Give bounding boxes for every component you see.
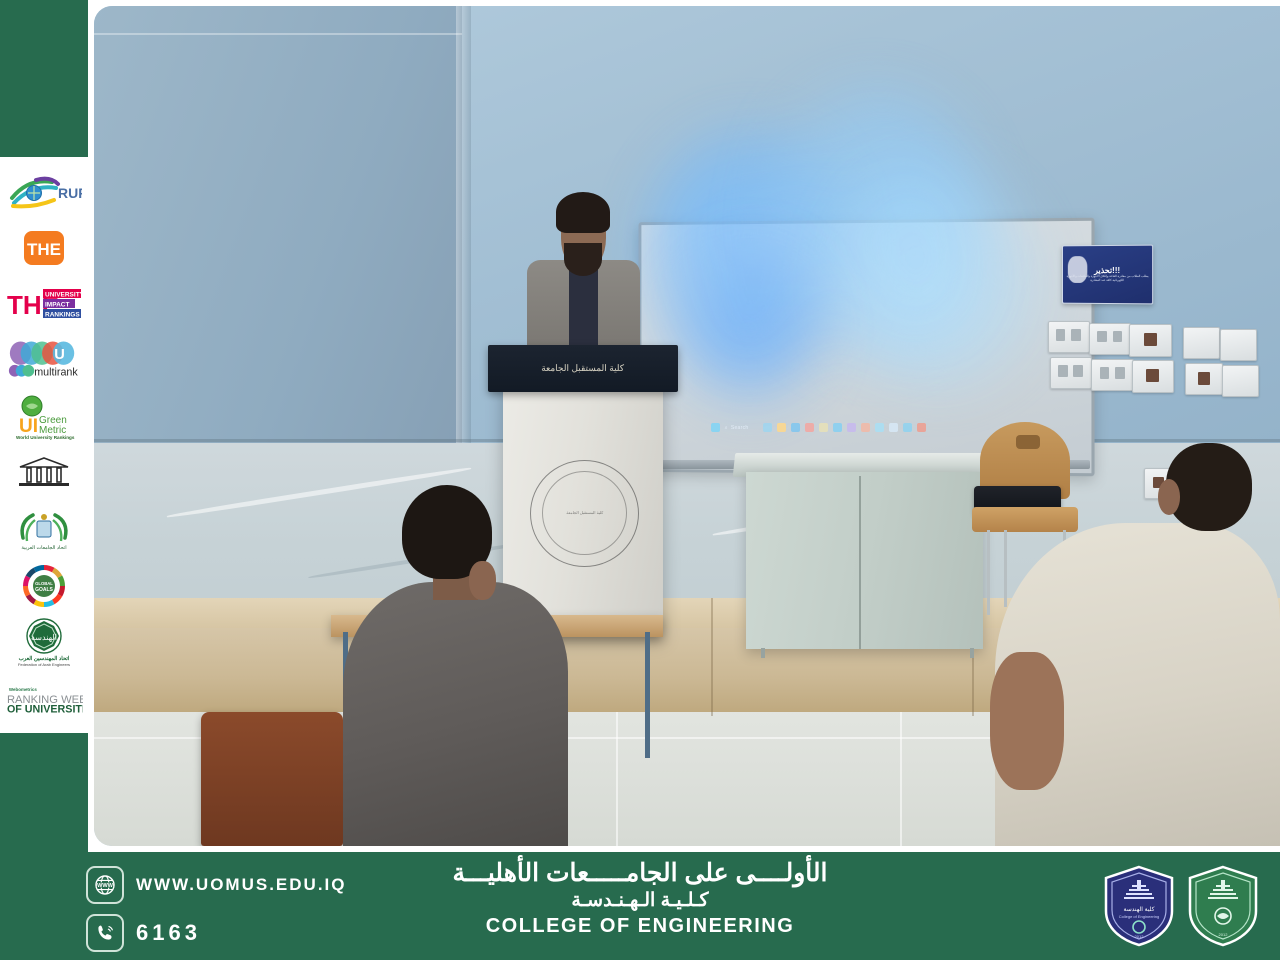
taskbar-icon-folder[interactable] bbox=[819, 423, 828, 432]
taskbar-icon-app4[interactable] bbox=[903, 423, 912, 432]
svg-text:U: U bbox=[54, 347, 65, 363]
taskbar-icon-app3[interactable] bbox=[889, 423, 898, 432]
svg-text:College of Engineering: College of Engineering bbox=[1119, 914, 1159, 919]
svg-text:اتحاد الجامعات العربية: اتحاد الجامعات العربية bbox=[21, 545, 66, 551]
taskbar-icon-store[interactable] bbox=[805, 423, 814, 432]
arab-universities-logo: اتحاد الجامعات العربية bbox=[5, 501, 83, 557]
svg-text:UNIVERSITY: UNIVERSITY bbox=[45, 292, 83, 299]
svg-text:2012: 2012 bbox=[1135, 934, 1145, 939]
taskbar-icon-chat[interactable] bbox=[833, 423, 842, 432]
bottom-banner: WWW WWW.UOMUS.EDU.IQ 6163 الأولــــى على… bbox=[0, 852, 1280, 960]
ui-greenmetric-logo: UI Green Metric World University Ranking… bbox=[5, 389, 83, 445]
svg-text:THE: THE bbox=[27, 240, 61, 259]
banner-crests: كلية الهندسة College of Engineering 2012… bbox=[1102, 864, 1260, 953]
search-icon: ⌕ bbox=[725, 425, 728, 431]
banner-arabic-college: كـلـيـة الـهـنـدسـة bbox=[0, 889, 1280, 912]
platform-seam bbox=[711, 598, 713, 716]
blank-plate[interactable] bbox=[1183, 327, 1221, 359]
power-socket-plate[interactable] bbox=[1129, 324, 1171, 356]
svg-text:GLOBAL: GLOBAL bbox=[35, 581, 53, 586]
college-of-engineering-crest: كلية الهندسة College of Engineering 2012 bbox=[1102, 864, 1176, 953]
power-socket-plate[interactable] bbox=[1132, 360, 1174, 392]
desk-leg bbox=[645, 632, 650, 758]
hand-icon bbox=[1068, 257, 1087, 283]
taskbar-search[interactable]: ⌕ Search bbox=[725, 425, 749, 431]
svg-text:OF UNIVERSITIES: OF UNIVERSITIES bbox=[7, 704, 83, 715]
rur-logo: RUR bbox=[5, 163, 83, 219]
taskbar-icon-app1[interactable] bbox=[861, 423, 870, 432]
svg-text:UI: UI bbox=[19, 416, 38, 437]
windows-taskbar[interactable]: ⌕ Search bbox=[711, 418, 996, 438]
svg-text:Webometrics: Webometrics bbox=[9, 687, 37, 692]
taskbar-icon-edge[interactable] bbox=[791, 423, 800, 432]
presenter-hair bbox=[556, 192, 610, 232]
seat-backrest bbox=[201, 712, 343, 846]
poster-canvas: RUR THE THE UNIVERSITY IMPACT RANKINGS bbox=[0, 0, 1280, 960]
ceiling-edge bbox=[94, 33, 462, 35]
attendee-right bbox=[995, 443, 1280, 846]
the-impact-rankings-logo: THE UNIVERSITY IMPACT RANKINGS bbox=[5, 276, 83, 332]
podium-plaque-text: كلية المستقبل الجامعة bbox=[541, 363, 624, 374]
podium-seal-text: كلية المستقبل الجامعة bbox=[566, 511, 603, 515]
banner-center-text: الأولــــى على الجامـــــعات الأهليـــة … bbox=[0, 858, 1280, 938]
attendee-left-sweater bbox=[343, 582, 568, 846]
multirank-logo: U multirank bbox=[5, 332, 83, 388]
search-placeholder: Search bbox=[731, 425, 749, 431]
attendee-right-head bbox=[1166, 443, 1251, 532]
svg-text:الهندسة: الهندسة bbox=[31, 633, 57, 642]
presenter bbox=[527, 199, 640, 367]
taskbar-icon-explorer[interactable] bbox=[777, 423, 786, 432]
light-switch-plate[interactable] bbox=[1091, 359, 1133, 391]
light-switch-plate[interactable] bbox=[1050, 357, 1092, 389]
svg-text:2012: 2012 bbox=[1219, 932, 1229, 937]
svg-text:كلية الهندسة: كلية الهندسة bbox=[1123, 906, 1154, 913]
svg-text:World University Rankings: World University Rankings bbox=[16, 435, 75, 440]
sdg-global-goals-logo: GLOBAL GOALS bbox=[5, 558, 83, 614]
the-logo: THE bbox=[5, 219, 83, 275]
power-socket-plate[interactable] bbox=[1185, 363, 1223, 395]
university-rankings-panel: RUR THE THE UNIVERSITY IMPACT RANKINGS bbox=[0, 157, 88, 733]
webometrics-ranking-web-logo: Webometrics RANKING WEB OF UNIVERSITIES bbox=[5, 671, 83, 727]
lecture-hall-photo: ⌕ Search تحذير!!! يطلب الط bbox=[94, 6, 1280, 846]
svg-text:RANKINGS: RANKINGS bbox=[45, 312, 80, 319]
left-wall bbox=[94, 6, 462, 485]
attendee-left bbox=[343, 485, 568, 846]
light-switch-plate[interactable] bbox=[1089, 323, 1131, 355]
banner-english-college: COLLEGE OF ENGINEERING bbox=[0, 915, 1280, 938]
svg-text:RUR: RUR bbox=[58, 185, 82, 201]
blank-plate[interactable] bbox=[1220, 329, 1258, 361]
university-crest: 2012 bbox=[1186, 864, 1260, 953]
podium-plaque: كلية المستقبل الجامعة bbox=[488, 345, 678, 392]
svg-text:GOALS: GOALS bbox=[35, 587, 53, 593]
light-switch-plate[interactable] bbox=[1048, 321, 1090, 353]
svg-text:Federation of Arab Engineers: Federation of Arab Engineers bbox=[18, 662, 70, 667]
svg-text:multirank: multirank bbox=[34, 367, 78, 379]
storage-cabinet bbox=[746, 472, 983, 648]
attendee-right-arm bbox=[990, 652, 1064, 789]
banner-arabic-headline: الأولــــى على الجامـــــعات الأهليـــة bbox=[0, 858, 1280, 888]
wall-corner bbox=[456, 6, 471, 485]
arab-engineers-federation-logo: الهندسة اتحاد المهندسين العرب Federation… bbox=[5, 614, 83, 670]
warning-sign: تحذير!!! يطلب الطلاب من مغادرة القاعة وإ… bbox=[1062, 245, 1153, 305]
cabinet-door-seam bbox=[859, 476, 861, 648]
blank-plate[interactable] bbox=[1222, 365, 1260, 397]
taskbar-icon-widgets[interactable] bbox=[763, 423, 772, 432]
taskbar-icon-teams[interactable] bbox=[847, 423, 856, 432]
svg-text:IMPACT: IMPACT bbox=[45, 302, 69, 309]
taskbar-icon-app2[interactable] bbox=[875, 423, 884, 432]
photo-frame: ⌕ Search تحذير!!! يطلب الط bbox=[88, 0, 1280, 852]
taskbar-icon-app5[interactable] bbox=[917, 423, 926, 432]
attendee-left-hand bbox=[469, 561, 496, 601]
windows-start-icon[interactable] bbox=[711, 423, 720, 432]
classical-building-icon bbox=[5, 445, 83, 501]
